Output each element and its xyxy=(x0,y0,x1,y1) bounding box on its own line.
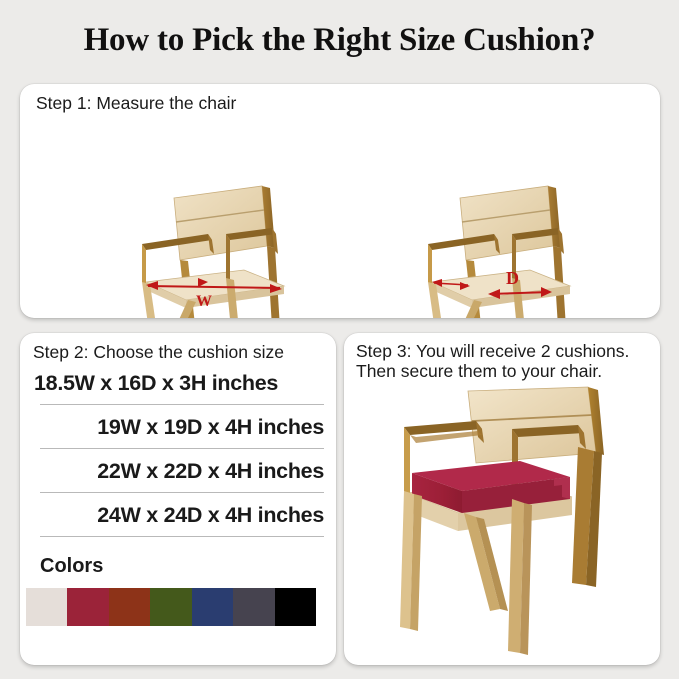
color-swatch-rust-brown[interactable] xyxy=(109,588,150,626)
page-title: How to Pick the Right Size Cushion? xyxy=(0,22,679,59)
size-option-row[interactable]: 19W x 19D x 4H inches xyxy=(34,413,324,457)
infographic-page: How to Pick the Right Size Cushion? Step… xyxy=(0,0,679,679)
step2-panel: Step 2: Choose the cushion size 18.5W x … xyxy=(20,333,336,665)
size-divider xyxy=(40,536,324,537)
color-swatch-slate-gray[interactable] xyxy=(233,588,274,626)
chair-with-cushion-illustration xyxy=(372,385,634,657)
color-swatch-strip[interactable] xyxy=(26,588,316,626)
size-option-row[interactable]: 18.5W x 16D x 3H inches xyxy=(34,369,324,413)
colors-label: Colors xyxy=(40,555,103,578)
cushion-size-list: 18.5W x 16D x 3H inches 19W x 19D x 4H i… xyxy=(34,369,324,545)
size-option-row[interactable]: 24W x 24D x 4H inches xyxy=(34,501,324,545)
size-divider xyxy=(40,404,324,405)
chair-depth-diagram: D xyxy=(398,182,608,318)
color-swatch-navy-blue[interactable] xyxy=(192,588,233,626)
step3-label-line2: Then secure them to your chair. xyxy=(356,361,602,382)
size-option-label: 19W x 19D x 4H inches xyxy=(97,415,324,440)
size-divider xyxy=(40,448,324,449)
color-swatch-black[interactable] xyxy=(275,588,316,626)
size-option-row[interactable]: 22W x 22D x 4H inches xyxy=(34,457,324,501)
size-option-label: 22W x 22D x 4H inches xyxy=(97,459,324,484)
step3-panel: Step 3: You will receive 2 cushions. The… xyxy=(344,333,660,665)
step1-label: Step 1: Measure the chair xyxy=(36,93,236,114)
chair-width-diagram: W xyxy=(112,182,322,318)
size-option-label: 24W x 24D x 4H inches xyxy=(97,503,324,528)
step1-panel: Step 1: Measure the chair xyxy=(20,84,660,318)
color-swatch-crimson-red[interactable] xyxy=(67,588,108,626)
size-divider xyxy=(40,492,324,493)
dimension-letter-w: W xyxy=(196,293,212,310)
dimension-letter-d: D xyxy=(506,268,519,288)
step3-label-line1: Step 3: You will receive 2 cushions. xyxy=(356,341,629,362)
color-swatch-cream[interactable] xyxy=(26,588,67,626)
color-swatch-olive-green[interactable] xyxy=(150,588,191,626)
size-option-label: 18.5W x 16D x 3H inches xyxy=(34,371,278,396)
step2-label: Step 2: Choose the cushion size xyxy=(33,342,284,363)
